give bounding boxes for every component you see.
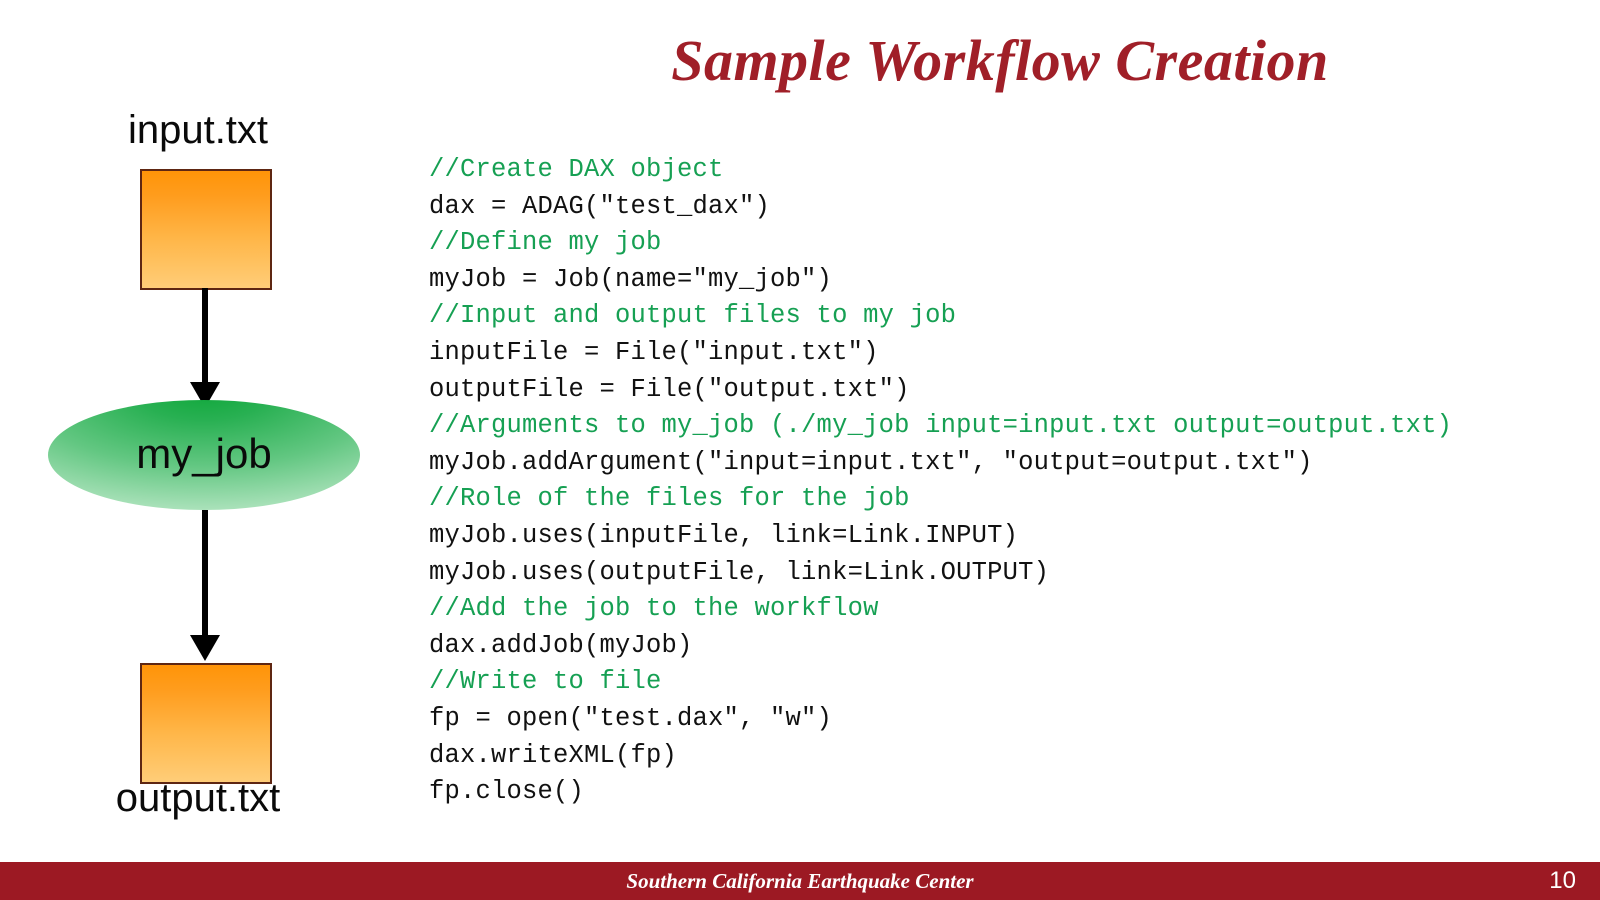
- footer-organization: Southern California Earthquake Center: [0, 862, 1600, 900]
- arrow-job-to-output-line: [202, 510, 208, 638]
- code-line: myJob.uses(inputFile, link=Link.INPUT): [429, 518, 1600, 555]
- code-line: myJob.addArgument("input=input.txt", "ou…: [429, 445, 1600, 482]
- page-title: Sample Workflow Creation: [420, 32, 1580, 90]
- output-file-node: [140, 663, 272, 784]
- code-line: //Role of the files for the job: [429, 481, 1600, 518]
- job-node-label: my_job: [48, 422, 360, 486]
- code-line: //Arguments to my_job (./my_job input=in…: [429, 408, 1600, 445]
- input-file-node: [140, 169, 272, 290]
- code-line: //Define my job: [429, 225, 1600, 262]
- code-line: //Write to file: [429, 664, 1600, 701]
- code-line: myJob = Job(name="my_job"): [429, 262, 1600, 299]
- workflow-diagram: input.txt my_job output.txt: [0, 90, 410, 830]
- page-number: 10: [1549, 862, 1576, 900]
- output-file-label: output.txt: [0, 778, 403, 818]
- code-line: myJob.uses(outputFile, link=Link.OUTPUT): [429, 555, 1600, 592]
- code-line: dax = ADAG("test_dax"): [429, 189, 1600, 226]
- footer-bar: Southern California Earthquake Center 10: [0, 862, 1600, 900]
- code-line: inputFile = File("input.txt"): [429, 335, 1600, 372]
- code-line: //Input and output files to my job: [429, 298, 1600, 335]
- input-file-label: input.txt: [0, 110, 403, 150]
- code-line: //Add the job to the workflow: [429, 591, 1600, 628]
- code-listing: //Create DAX objectdax = ADAG("test_dax"…: [429, 152, 1600, 811]
- code-line: //Create DAX object: [429, 152, 1600, 189]
- arrow-input-to-job-line: [202, 288, 208, 388]
- code-line: fp = open("test.dax", "w"): [429, 701, 1600, 738]
- code-line: outputFile = File("output.txt"): [429, 372, 1600, 409]
- code-line: dax.addJob(myJob): [429, 628, 1600, 665]
- code-line: dax.writeXML(fp): [429, 738, 1600, 775]
- code-line: fp.close(): [429, 774, 1600, 811]
- arrow-job-to-output-head-icon: [190, 635, 220, 661]
